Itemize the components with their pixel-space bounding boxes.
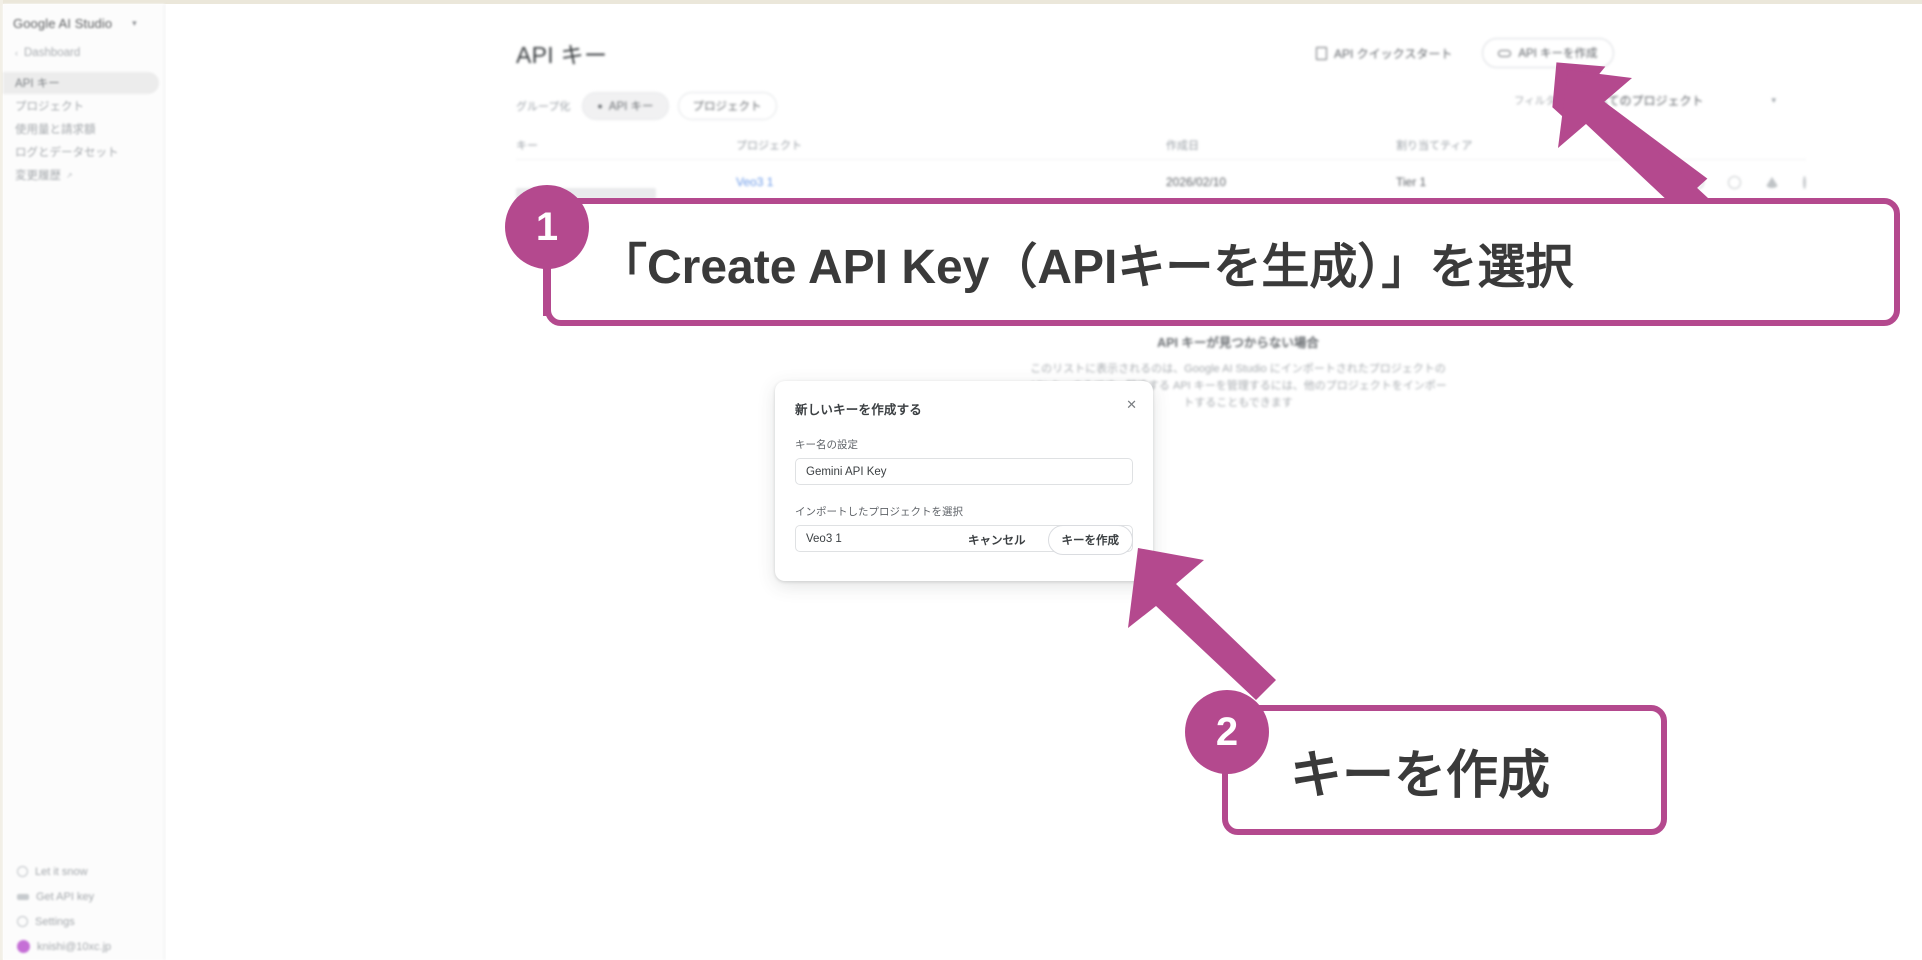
sidebar-item-usage-billing[interactable]: 使用量と請求額 xyxy=(3,118,165,140)
key-icon xyxy=(1498,50,1511,57)
sidebar-item-label: 使用量と請求額 xyxy=(15,121,96,137)
callout-2-number: 2 xyxy=(1216,710,1238,755)
callout-1-badge: 1 xyxy=(505,185,589,269)
annotation-arrow-2 xyxy=(1110,540,1300,700)
project-select-label: インポートしたプロジェクトを選択 xyxy=(795,504,1133,519)
callout-1-number: 1 xyxy=(536,205,558,250)
chevron-down-icon: ▾ xyxy=(1771,95,1776,106)
sidebar-bottom-label: Get API key xyxy=(36,891,94,903)
group-by-chips: グループ化 ● API キー プロジェクト xyxy=(516,92,777,120)
brand[interactable]: Google AI Studio ▾ xyxy=(13,16,158,31)
sidebar: Google AI Studio ▾ ‹ Dashboard API キー プロ… xyxy=(3,4,165,960)
project-select-value: Veo3 1 xyxy=(806,533,842,545)
sidebar-item-changelog[interactable]: 変更履歴 ↗ xyxy=(3,164,165,186)
sidebar-bottom-label: Let it snow xyxy=(35,866,88,878)
avatar xyxy=(17,940,30,953)
chevron-left-icon: ‹ xyxy=(15,48,18,58)
column-header-created: 作成日 xyxy=(1166,137,1396,153)
chip-projects[interactable]: プロジェクト xyxy=(678,92,777,120)
chip-api-keys[interactable]: ● API キー xyxy=(582,92,668,120)
chip-label: プロジェクト xyxy=(693,98,762,114)
check-icon: ● xyxy=(597,101,602,111)
document-icon xyxy=(1316,47,1327,60)
column-header-project: プロジェクト xyxy=(736,137,1166,153)
gear-icon xyxy=(17,916,28,927)
sidebar-item-label: 変更履歴 xyxy=(15,167,61,183)
sidebar-item-label: ログとデータセット xyxy=(15,144,119,160)
cancel-button[interactable]: キャンセル xyxy=(958,526,1036,554)
column-header-key: キー xyxy=(516,137,736,153)
group-by-label: グループ化 xyxy=(516,98,570,114)
more-icon[interactable] xyxy=(1803,176,1806,189)
account-email: knishi@10xc.jp xyxy=(37,941,111,953)
screenshot-root: Google AI Studio ▾ ‹ Dashboard API キー プロ… xyxy=(0,0,1922,960)
sidebar-back-label: Dashboard xyxy=(24,47,80,59)
sidebar-bottom-nav: Let it snow Get API key Settings knishi@… xyxy=(3,859,165,959)
cell-project[interactable]: Veo3 1 xyxy=(736,175,1166,189)
callout-2-badge: 2 xyxy=(1185,690,1269,774)
sidebar-item-label: プロジェクト xyxy=(15,98,84,114)
callout-1-text: 「Create API Key（APIキーを生成）」を選択 xyxy=(599,227,1573,297)
delete-icon[interactable] xyxy=(1765,177,1779,188)
callout-2-text: キーを作成 xyxy=(1290,733,1550,808)
external-link-icon: ↗ xyxy=(66,171,73,180)
sidebar-item-get-api-key[interactable]: Get API key xyxy=(3,884,165,909)
annotation-arrow-1 xyxy=(1540,50,1740,220)
api-quickstart-label: API クイックスタート xyxy=(1334,45,1452,62)
key-name-input[interactable]: Gemini API Key xyxy=(795,458,1133,485)
sidebar-bottom-label: Settings xyxy=(35,916,75,928)
sidebar-item-label: API キー xyxy=(15,75,60,91)
account-row[interactable]: knishi@10xc.jp xyxy=(3,934,165,959)
page-title: API キー xyxy=(516,36,607,70)
api-quickstart-link[interactable]: API クイックスタート xyxy=(1316,45,1452,62)
dialog-actions: キャンセル キーを作成 xyxy=(958,525,1133,555)
snowflake-icon xyxy=(17,866,28,877)
sidebar-item-api-keys[interactable]: API キー xyxy=(3,72,159,94)
sidebar-item-projects[interactable]: プロジェクト xyxy=(3,95,165,117)
empty-state-heading: API キーが見つからない場合 xyxy=(1028,332,1448,351)
chip-label: API キー xyxy=(609,98,654,114)
project-link[interactable]: Veo3 1 xyxy=(736,175,773,189)
chevron-down-icon[interactable]: ▾ xyxy=(132,18,137,29)
create-key-dialog: 新しいキーを作成する ✕ キー名の設定 Gemini API Key インポート… xyxy=(775,381,1153,581)
cell-created: 2026/02/10 xyxy=(1166,175,1396,189)
brand-label: Google AI Studio xyxy=(13,16,112,31)
sidebar-back-dashboard[interactable]: ‹ Dashboard xyxy=(15,47,80,59)
close-icon[interactable]: ✕ xyxy=(1126,398,1137,411)
sidebar-item-let-it-snow[interactable]: Let it snow xyxy=(3,859,165,884)
dialog-title: 新しいキーを作成する xyxy=(795,399,1133,418)
sidebar-nav: API キー プロジェクト 使用量と請求額 ログとデータセット 変更履歴 ↗ xyxy=(3,72,165,187)
key-name-label: キー名の設定 xyxy=(795,437,1133,452)
callout-1: 「Create API Key（APIキーを生成）」を選択 xyxy=(545,198,1900,326)
sidebar-item-logs-datasets[interactable]: ログとデータセット xyxy=(3,141,165,163)
key-icon xyxy=(17,894,29,900)
callout-2: キーを作成 xyxy=(1222,705,1667,835)
sidebar-item-settings[interactable]: Settings xyxy=(3,909,165,934)
